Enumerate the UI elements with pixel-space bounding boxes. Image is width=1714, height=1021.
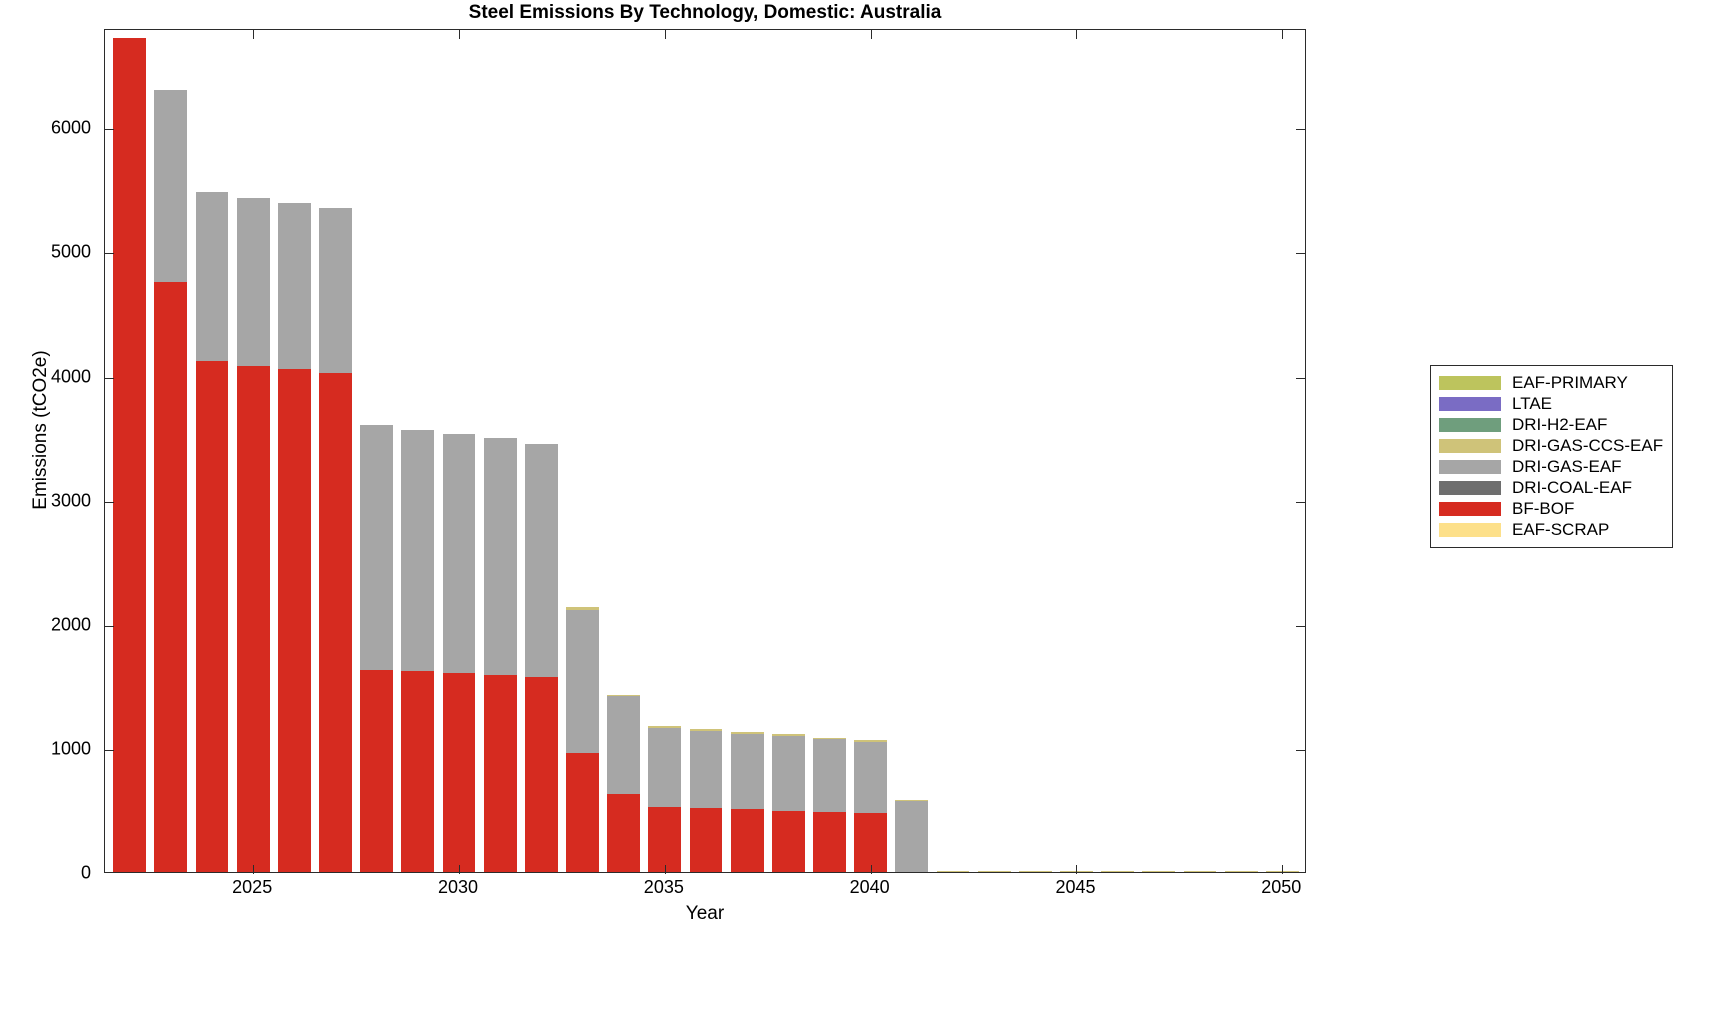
bar-stack[interactable] — [566, 607, 599, 872]
x-tick-mark — [459, 865, 460, 874]
x-tick-mark — [1076, 30, 1077, 39]
y-tick-mark — [1296, 129, 1305, 130]
bar-stack[interactable] — [113, 38, 146, 872]
legend-item[interactable]: DRI-GAS-EAF — [1439, 456, 1663, 477]
bar-stack[interactable] — [978, 871, 1011, 872]
bar-segment[interactable] — [854, 740, 887, 742]
bar-stack[interactable] — [813, 738, 846, 872]
bar-stack[interactable] — [278, 203, 311, 872]
x-tick-label: 2025 — [232, 877, 272, 898]
y-tick-mark — [105, 378, 114, 379]
bar-segment[interactable] — [648, 807, 681, 872]
bar-segment[interactable] — [772, 734, 805, 736]
bar-segment[interactable] — [196, 361, 229, 872]
y-tick-mark — [105, 750, 114, 751]
y-tick-mark — [105, 129, 114, 130]
x-tick-label: 2030 — [438, 877, 478, 898]
bar-stack[interactable] — [401, 430, 434, 872]
chart-title: Steel Emissions By Technology, Domestic:… — [104, 2, 1306, 24]
x-axis-label: Year — [104, 903, 1306, 925]
legend-label: LTAE — [1512, 395, 1552, 412]
x-tick-mark — [253, 865, 254, 874]
y-tick-mark — [1296, 253, 1305, 254]
legend-swatch-icon — [1439, 439, 1501, 453]
bar-segment[interactable] — [607, 695, 640, 696]
x-tick-mark — [871, 30, 872, 39]
bar-segment[interactable] — [690, 729, 723, 731]
x-tick-mark — [871, 865, 872, 874]
legend-label: EAF-SCRAP — [1512, 521, 1609, 538]
y-tick-mark — [105, 502, 114, 503]
bar-segment[interactable] — [154, 90, 187, 282]
bar-segment[interactable] — [937, 871, 970, 872]
bar-segment[interactable] — [401, 671, 434, 872]
bar-segment[interactable] — [319, 208, 352, 373]
x-tick-label: 2035 — [644, 877, 684, 898]
bar-stack[interactable] — [772, 734, 805, 872]
bar-stack[interactable] — [1184, 871, 1217, 872]
legend-swatch-icon — [1439, 460, 1501, 474]
bar-segment[interactable] — [813, 739, 846, 812]
bar-segment[interactable] — [401, 430, 434, 671]
bar-segment[interactable] — [731, 734, 764, 810]
bar-segment[interactable] — [237, 366, 270, 872]
x-tick-mark — [1076, 865, 1077, 874]
bar-segment[interactable] — [1101, 871, 1134, 872]
bar-segment[interactable] — [360, 670, 393, 872]
legend-item[interactable]: DRI-H2-EAF — [1439, 414, 1663, 435]
bar-stack[interactable] — [196, 192, 229, 872]
legend-label: EAF-PRIMARY — [1512, 374, 1628, 391]
bar-stack[interactable] — [319, 208, 352, 872]
bar-segment[interactable] — [1225, 871, 1258, 872]
x-tick-mark — [253, 30, 254, 39]
bar-segment[interactable] — [525, 444, 558, 677]
bar-segment[interactable] — [566, 610, 599, 753]
x-tick-mark — [665, 30, 666, 39]
y-tick-label: 5000 — [51, 242, 91, 263]
bar-segment[interactable] — [607, 696, 640, 793]
bar-stack[interactable] — [648, 726, 681, 872]
bar-segment[interactable] — [566, 607, 599, 610]
bar-segment[interactable] — [895, 801, 928, 872]
bar-segment[interactable] — [772, 736, 805, 810]
bar-segment[interactable] — [813, 812, 846, 872]
bar-segment[interactable] — [525, 677, 558, 872]
legend-item[interactable]: EAF-PRIMARY — [1439, 372, 1663, 393]
bar-segment[interactable] — [113, 38, 146, 872]
bar-segment[interactable] — [484, 675, 517, 872]
bar-stack[interactable] — [690, 729, 723, 872]
bar-segment[interactable] — [484, 438, 517, 674]
bar-segment[interactable] — [154, 282, 187, 872]
x-tick-label: 2040 — [850, 877, 890, 898]
bar-segment[interactable] — [1019, 871, 1052, 872]
bar-segment[interactable] — [854, 742, 887, 813]
legend-label: DRI-COAL-EAF — [1512, 479, 1632, 496]
bar-segment[interactable] — [1142, 871, 1175, 872]
bar-segment[interactable] — [607, 794, 640, 872]
bar-segment[interactable] — [278, 203, 311, 369]
bar-segment[interactable] — [690, 731, 723, 809]
bar-segment[interactable] — [690, 808, 723, 872]
y-tick-mark — [1296, 626, 1305, 627]
bar-segment[interactable] — [895, 800, 928, 801]
bar-segment[interactable] — [443, 673, 476, 872]
bar-segment[interactable] — [978, 871, 1011, 872]
bar-segment[interactable] — [360, 425, 393, 670]
legend-swatch-icon — [1439, 376, 1501, 390]
bar-stack[interactable] — [937, 871, 970, 872]
bar-segment[interactable] — [319, 373, 352, 872]
bars-layer — [105, 30, 1305, 872]
bar-stack[interactable] — [484, 438, 517, 872]
bar-stack[interactable] — [237, 198, 270, 872]
y-axis-label: Emissions (tCO2e) — [30, 50, 52, 810]
legend-label: DRI-H2-EAF — [1512, 416, 1607, 433]
bar-stack[interactable] — [1142, 871, 1175, 872]
legend-item[interactable]: EAF-SCRAP — [1439, 519, 1663, 540]
y-tick-mark — [105, 626, 114, 627]
bar-stack[interactable] — [895, 800, 928, 872]
legend-swatch-icon — [1439, 397, 1501, 411]
bar-stack[interactable] — [443, 434, 476, 872]
y-tick-label: 4000 — [51, 366, 91, 387]
bar-stack[interactable] — [854, 740, 887, 872]
bar-stack[interactable] — [360, 425, 393, 872]
x-tick-label: 2045 — [1055, 877, 1095, 898]
legend-item[interactable]: BF-BOF — [1439, 498, 1663, 519]
bar-segment[interactable] — [566, 753, 599, 872]
bar-segment[interactable] — [772, 811, 805, 872]
bar-stack[interactable] — [607, 695, 640, 872]
bar-segment[interactable] — [443, 434, 476, 673]
legend-swatch-icon — [1439, 523, 1501, 537]
legend-item[interactable]: DRI-GAS-CCS-EAF — [1439, 435, 1663, 456]
legend-label: DRI-GAS-CCS-EAF — [1512, 437, 1663, 454]
x-tick-label: 2050 — [1261, 877, 1301, 898]
bar-stack[interactable] — [1019, 871, 1052, 872]
legend-label: BF-BOF — [1512, 500, 1574, 517]
legend-item[interactable]: LTAE — [1439, 393, 1663, 414]
y-tick-label: 6000 — [51, 118, 91, 139]
bar-segment[interactable] — [731, 809, 764, 872]
y-tick-label: 1000 — [51, 738, 91, 759]
legend-swatch-icon — [1439, 481, 1501, 495]
bar-segment[interactable] — [278, 369, 311, 872]
bar-stack[interactable] — [731, 732, 764, 872]
x-tick-mark — [1282, 30, 1283, 39]
bar-stack[interactable] — [525, 444, 558, 872]
bar-segment[interactable] — [196, 192, 229, 361]
legend-item[interactable]: DRI-COAL-EAF — [1439, 477, 1663, 498]
legend-swatch-icon — [1439, 418, 1501, 432]
y-tick-mark — [1296, 750, 1305, 751]
legend-label: DRI-GAS-EAF — [1512, 458, 1622, 475]
legend-swatch-icon — [1439, 502, 1501, 516]
bar-segment[interactable] — [854, 813, 887, 872]
bar-segment[interactable] — [648, 728, 681, 807]
bar-stack[interactable] — [1101, 871, 1134, 872]
bar-stack[interactable] — [154, 90, 187, 872]
chart-figure: Steel Emissions By Technology, Domestic:… — [0, 0, 1714, 1021]
bar-segment[interactable] — [648, 726, 681, 728]
bar-stack[interactable] — [1225, 871, 1258, 872]
y-tick-label: 0 — [81, 863, 91, 884]
x-tick-mark — [665, 865, 666, 874]
x-tick-mark — [1282, 865, 1283, 874]
y-tick-mark — [1296, 502, 1305, 503]
x-tick-mark — [459, 30, 460, 39]
chart-legend: EAF-PRIMARYLTAEDRI-H2-EAFDRI-GAS-CCS-EAF… — [1430, 365, 1673, 548]
y-tick-label: 2000 — [51, 614, 91, 635]
bar-segment[interactable] — [813, 738, 846, 740]
bar-segment[interactable] — [731, 732, 764, 734]
y-tick-mark — [105, 253, 114, 254]
plot-area — [104, 29, 1306, 873]
y-tick-mark — [1296, 378, 1305, 379]
bar-segment[interactable] — [1184, 871, 1217, 872]
y-tick-label: 3000 — [51, 490, 91, 511]
bar-segment[interactable] — [237, 198, 270, 366]
